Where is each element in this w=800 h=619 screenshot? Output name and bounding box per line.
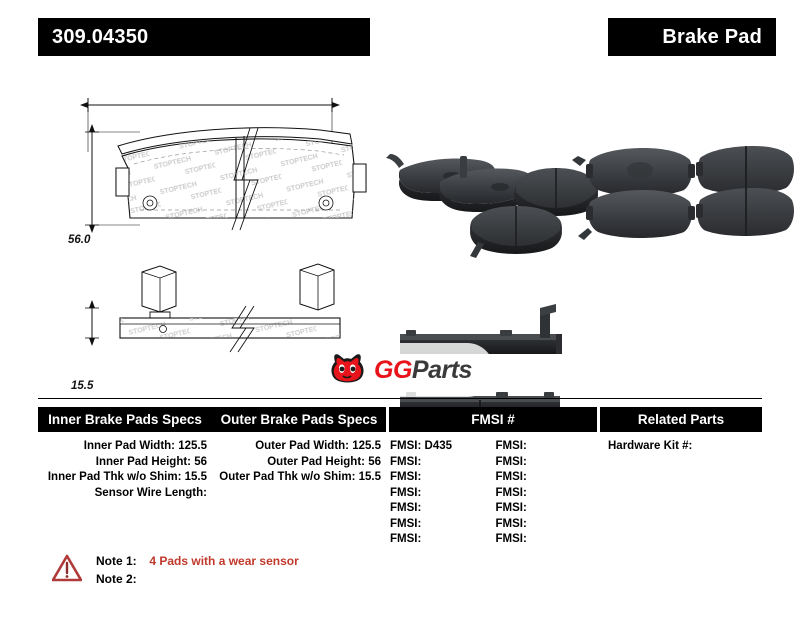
fmsi-label: FMSI: (390, 440, 421, 452)
fmsi-label: FMSI: (496, 471, 527, 483)
note-row: Note 2: (96, 570, 299, 588)
inner-spec-label: Inner Pad Height: (96, 456, 191, 468)
part-number-text: 309.04350 (38, 26, 148, 49)
note-value: 4 Pads with a wear sensor (149, 554, 298, 568)
outer-specs-column: Outer Pad Width: 125.5 Outer Pad Height:… (212, 439, 386, 548)
inner-spec-row: Sensor Wire Length: (38, 486, 212, 502)
inner-specs-column: Inner Pad Width: 125.5 Inner Pad Height:… (38, 439, 212, 548)
ggparts-wordmark: GGParts (374, 356, 472, 385)
fmsi-label: FMSI: (390, 471, 421, 483)
fmsi-row: FMSI: (492, 455, 598, 471)
outer-spec-label: Outer Pad Width: (255, 440, 349, 452)
table-header-row: Inner Brake Pads Specs Outer Brake Pads … (38, 407, 762, 432)
technical-drawing-area: 125.5 56.0 15.5 STOPTECH STOPTECH (0, 60, 800, 385)
fmsi-label: FMSI: (496, 487, 527, 499)
fmsi-row: FMSI: (386, 501, 492, 517)
fmsi-value: D435 (425, 440, 453, 452)
fmsi-row: FMSI: (386, 532, 492, 548)
fmsi-label: FMSI: (496, 456, 527, 468)
note-row: Note 1: 4 Pads with a wear sensor (96, 552, 299, 570)
fmsi-label: FMSI: (496, 518, 527, 530)
fmsi-row: FMSI: (492, 532, 598, 548)
fmsi-label: FMSI: (390, 518, 421, 530)
inner-spec-row: Inner Pad Width: 125.5 (38, 439, 212, 455)
notes-section: Note 1: 4 Pads with a wear sensor Note 2… (52, 552, 299, 588)
product-type-banner: Brake Pad (608, 18, 776, 56)
related-part-row: Hardware Kit #: (600, 439, 762, 455)
fmsi-row: FMSI: D435 (386, 439, 492, 455)
inner-spec-value: 15.5 (185, 471, 207, 483)
related-parts-header: Related Parts (600, 407, 762, 432)
fmsi-row: FMSI: (492, 501, 598, 517)
fmsi-header: FMSI # (389, 407, 597, 432)
related-parts-column: Hardware Kit #: (600, 439, 762, 548)
warning-triangle-icon (52, 554, 82, 582)
table-top-rule (38, 398, 762, 399)
outer-specs-header: Outer Brake Pads Specs (212, 412, 386, 427)
table-body-row: Inner Pad Width: 125.5 Inner Pad Height:… (38, 439, 762, 548)
fmsi-row: FMSI: (386, 455, 492, 471)
outer-spec-value: 15.5 (359, 471, 381, 483)
outer-spec-label: Outer Pad Height: (267, 456, 365, 468)
inner-spec-label: Inner Pad Thk w/o Shim: (48, 471, 182, 483)
inner-specs-header: Inner Brake Pads Specs (38, 412, 212, 427)
product-photo-edge-pads (0, 60, 800, 385)
ggparts-brand-parts: Parts (412, 356, 472, 384)
fmsi-label: FMSI: (496, 502, 527, 514)
related-part-label: Hardware Kit #: (608, 440, 692, 452)
fmsi-label: FMSI: (390, 487, 421, 499)
outer-spec-value: 56 (368, 456, 381, 468)
fmsi-row: FMSI: (492, 470, 598, 486)
outer-spec-row: Outer Pad Height: 56 (212, 455, 386, 471)
fmsi-column: FMSI: D435 FMSI: FMSI: FMSI: FMSI: (386, 439, 597, 548)
fmsi-row: FMSI: (386, 486, 492, 502)
fmsi-row: FMSI: (492, 439, 598, 455)
pads-specs-header-band: Inner Brake Pads Specs Outer Brake Pads … (38, 407, 386, 432)
outer-spec-label: Outer Pad Thk w/o Shim: (219, 471, 355, 483)
fmsi-label: FMSI: (496, 533, 527, 545)
fmsi-label: FMSI: (390, 533, 421, 545)
notes-text-block: Note 1: 4 Pads with a wear sensor Note 2… (96, 552, 299, 588)
fmsi-label: FMSI: (390, 502, 421, 514)
note-label: Note 2: (96, 570, 146, 588)
fmsi-row: FMSI: (492, 486, 598, 502)
product-type-text: Brake Pad (662, 26, 776, 49)
specifications-table: Inner Brake Pads Specs Outer Brake Pads … (38, 398, 762, 548)
inner-spec-row: Inner Pad Height: 56 (38, 455, 212, 471)
fmsi-subcolumn-right: FMSI: FMSI: FMSI: FMSI: FMSI: (492, 439, 598, 548)
inner-spec-value: 56 (194, 456, 207, 468)
inner-spec-label: Inner Pad Width: (84, 440, 175, 452)
outer-spec-value: 125.5 (352, 440, 381, 452)
outer-spec-row: Outer Pad Width: 125.5 (212, 439, 386, 455)
note-label: Note 1: (96, 552, 146, 570)
inner-spec-row: Inner Pad Thk w/o Shim: 15.5 (38, 470, 212, 486)
ggparts-watermark: GGParts (318, 343, 494, 397)
fmsi-row: FMSI: (492, 517, 598, 533)
inner-spec-label: Sensor Wire Length: (95, 487, 207, 499)
part-number-banner: 309.04350 (38, 18, 370, 56)
ggparts-brand-gg: GG (374, 356, 412, 384)
fmsi-row: FMSI: (386, 517, 492, 533)
fmsi-subcolumn-left: FMSI: D435 FMSI: FMSI: FMSI: FMSI: (386, 439, 492, 548)
fmsi-row: FMSI: (386, 470, 492, 486)
fmsi-label: FMSI: (496, 440, 527, 452)
outer-spec-row: Outer Pad Thk w/o Shim: 15.5 (212, 470, 386, 486)
ggparts-mascot-icon (326, 351, 368, 389)
fmsi-label: FMSI: (390, 456, 421, 468)
inner-spec-value: 125.5 (178, 440, 207, 452)
